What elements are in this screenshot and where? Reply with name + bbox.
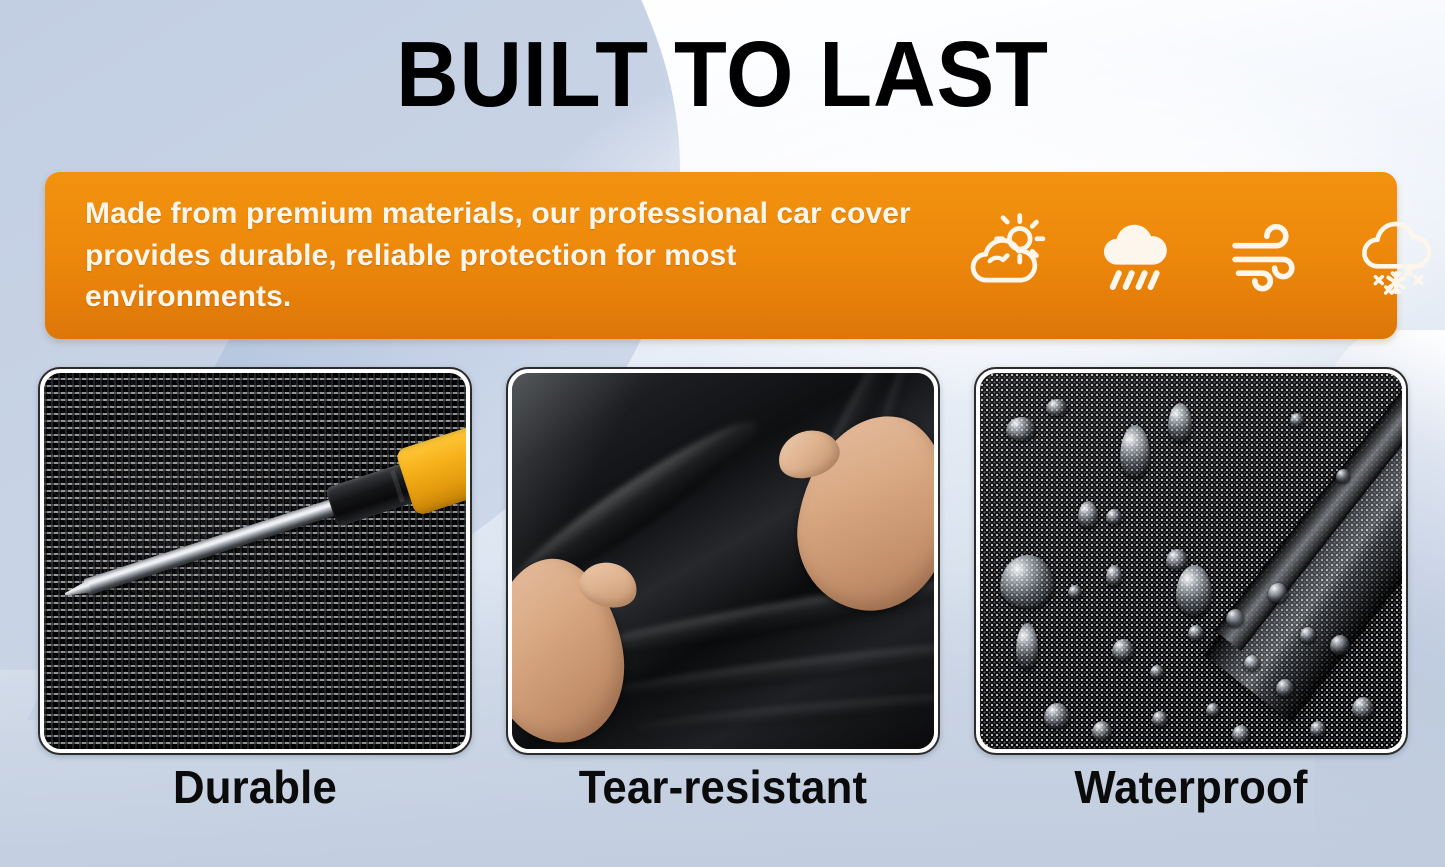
water-droplet (1188, 625, 1204, 641)
photo-hands-stretching-black-sheet (512, 373, 934, 749)
page-title: BUILT TO LAST (51, 28, 1395, 121)
rain-cloud-icon (1093, 213, 1179, 299)
water-droplet (1106, 565, 1122, 587)
sun-behind-cloud-icon (963, 213, 1049, 299)
water-droplet (1232, 725, 1250, 743)
photo-water-beading-on-fabric (980, 373, 1402, 749)
wind-icon (1223, 213, 1309, 299)
feature-banner: Made from premium materials, our profess… (45, 172, 1397, 339)
banner-description: Made from premium materials, our profess… (45, 193, 945, 318)
water-droplet (1244, 655, 1260, 671)
water-droplet (1168, 403, 1192, 443)
fabric-weave-texture (44, 373, 466, 749)
feature-label-durable: Durable (49, 762, 461, 813)
feature-label-tear-resistant: Tear-resistant (517, 762, 929, 813)
water-droplet (1290, 413, 1304, 427)
water-droplet (1176, 565, 1212, 617)
water-droplet (1078, 501, 1098, 529)
water-droplet (1268, 583, 1288, 603)
water-droplet (1106, 509, 1122, 525)
water-droplet (1112, 639, 1134, 661)
water-droplet (1310, 721, 1326, 737)
water-droplet (1068, 585, 1082, 599)
water-droplet (1206, 703, 1220, 717)
water-droplet (1336, 469, 1350, 483)
feature-panel-row (38, 367, 1408, 755)
water-droplet (1120, 425, 1150, 479)
water-droplet (1044, 703, 1070, 729)
water-droplet (1006, 417, 1036, 441)
water-droplet (1166, 549, 1188, 571)
feature-label-row: Durable Tear-resistant Waterproof (38, 762, 1408, 813)
water-droplet (1152, 711, 1168, 727)
feature-label-waterproof: Waterproof (985, 762, 1397, 813)
water-droplet (1300, 627, 1316, 643)
feature-panel-tear-resistant[interactable] (506, 367, 940, 755)
weather-icon-row (945, 213, 1439, 299)
snow-cloud-icon (1353, 213, 1439, 299)
water-droplet (1352, 697, 1374, 719)
water-droplet (1226, 609, 1244, 627)
water-droplet (1276, 679, 1294, 697)
feature-panel-durable[interactable] (38, 367, 472, 755)
infographic-canvas: BUILT TO LAST Made from premium material… (0, 0, 1445, 867)
photo-woven-fabric-with-screwdriver (44, 373, 466, 749)
water-droplet (1000, 555, 1054, 609)
water-droplet (1150, 665, 1164, 679)
water-droplet (1016, 623, 1038, 671)
water-droplet (1092, 721, 1112, 741)
water-droplet (1046, 399, 1068, 416)
water-droplet (1330, 635, 1350, 655)
feature-panel-waterproof[interactable] (974, 367, 1408, 755)
